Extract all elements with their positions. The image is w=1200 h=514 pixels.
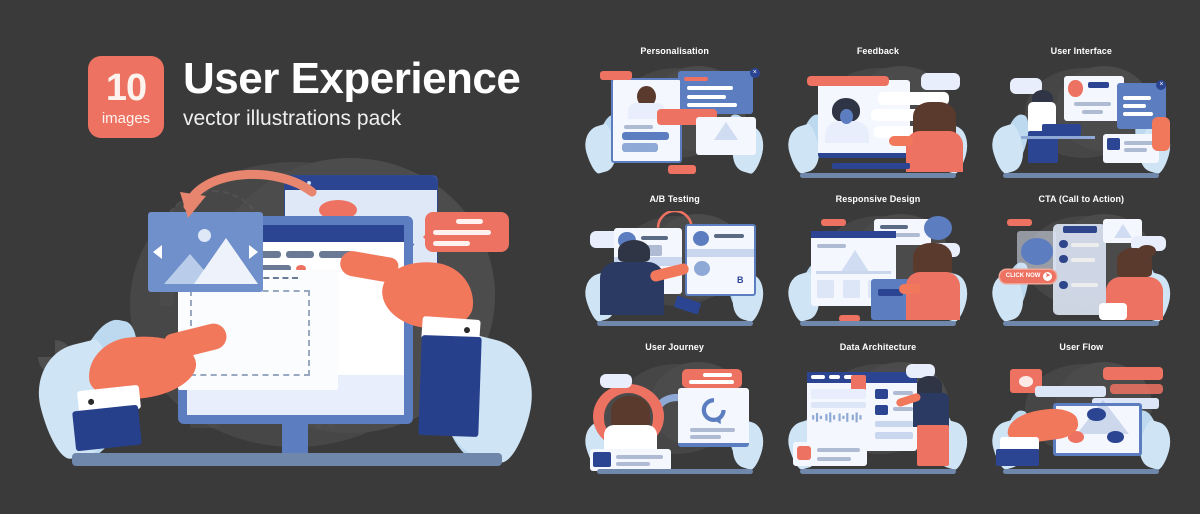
rating-bar <box>807 76 889 87</box>
thumb-data-architecture[interactable]: Data Architecture <box>781 338 974 482</box>
thumb-cta[interactable]: CTA (Call to Action) <box>985 190 1178 334</box>
shield-icon <box>924 216 952 240</box>
person-body <box>825 121 869 143</box>
avatar-icon <box>1068 80 1082 97</box>
sleeve <box>996 449 1039 466</box>
pie-chart-icon <box>693 231 709 246</box>
hair-icon <box>611 396 650 427</box>
tag-badge <box>668 165 696 173</box>
headset-icon <box>840 109 853 123</box>
thumb-title: Personalisation <box>578 46 771 56</box>
browser-window[interactable] <box>807 372 917 452</box>
button <box>1088 82 1110 88</box>
thumb-user-flow[interactable]: User Flow <box>985 338 1178 482</box>
waveform-icon <box>811 411 866 424</box>
refresh-circle-icon <box>691 396 736 424</box>
thumb-title: Responsive Design <box>781 194 974 204</box>
hair-bun-icon <box>1138 245 1156 257</box>
tag-badge <box>1007 219 1032 226</box>
thumb-title: A/B Testing <box>578 194 771 204</box>
thumb-feedback[interactable]: Feedback <box>781 42 974 186</box>
journey-screen[interactable] <box>678 388 749 446</box>
donut-chart-icon <box>1021 238 1053 265</box>
speech-bubble-icon <box>600 374 632 389</box>
close-icon[interactable]: × <box>750 68 760 78</box>
mountain-shape-icon <box>714 122 738 140</box>
image-count-badge: 10 images <box>88 56 164 138</box>
thumb-art: A B <box>586 209 763 330</box>
badge-count: 10 <box>106 69 146 107</box>
thumb-title: CTA (Call to Action) <box>985 194 1178 204</box>
desk-edge <box>832 163 910 169</box>
person-legs <box>917 425 949 466</box>
tag-badge <box>821 219 846 226</box>
curved-arrow-icon <box>180 162 330 232</box>
thumb-art <box>789 357 966 478</box>
screen-variant-b[interactable]: B <box>685 224 756 297</box>
thumb-art <box>993 357 1170 478</box>
thumb-title: User Flow <box>985 342 1178 352</box>
label-bar <box>1035 386 1106 397</box>
thumb-art: CLICK NOW ➤ <box>993 209 1170 330</box>
phone-checklist[interactable] <box>1053 224 1106 316</box>
arm-icon <box>889 136 914 146</box>
page-title: User Experience <box>183 57 520 102</box>
thumb-title: Data Architecture <box>781 342 974 352</box>
mountain-shape-icon <box>841 250 869 272</box>
hero-section: 10 images User Experience vector illustr… <box>0 0 570 514</box>
thumb-responsive-design[interactable]: Responsive Design <box>781 190 974 334</box>
arrow-right-circle-icon: ➤ <box>1043 272 1052 281</box>
task-card <box>793 442 867 466</box>
person-body <box>906 131 963 172</box>
arm-icon <box>1152 117 1170 151</box>
title-block: 10 images User Experience vector illustr… <box>88 56 520 138</box>
sleeve <box>72 405 142 452</box>
badge-label: images <box>102 111 150 126</box>
thumb-user-interface[interactable]: User Interface × <box>985 42 1178 186</box>
thumbnail-grid: Personalisation × <box>578 42 1178 482</box>
hero-illustration <box>30 150 550 490</box>
checkbox-icon <box>1059 240 1068 248</box>
floor-line <box>72 453 502 466</box>
title-text-group: User Experience vector illustrations pac… <box>183 57 520 131</box>
hair-icon <box>618 240 650 262</box>
check-icon <box>797 446 810 460</box>
page-subtitle: vector illustrations pack <box>183 107 520 131</box>
arm-icon <box>899 284 920 294</box>
sleeve <box>418 335 481 437</box>
image-card <box>696 117 756 156</box>
thumb-art <box>586 357 763 478</box>
thumb-art: × <box>586 61 763 182</box>
variant-b-label: B <box>737 275 744 285</box>
thumb-ab-testing[interactable]: A/B Testing A <box>578 190 771 334</box>
checkbox-icon <box>1059 281 1068 289</box>
desk-icon <box>1021 136 1095 139</box>
chat-bubble-icon <box>622 132 669 141</box>
person-body <box>604 425 657 452</box>
laptop-icon[interactable] <box>1042 124 1081 136</box>
comment-bubble <box>425 212 509 252</box>
info-card <box>590 449 672 471</box>
thumb-art: × <box>993 61 1170 182</box>
thumb-personalisation[interactable]: Personalisation × <box>578 42 771 186</box>
comment-bubble <box>1110 384 1163 395</box>
cta-label: CLICK NOW <box>1006 273 1041 279</box>
person-body <box>906 272 959 320</box>
thumb-title: User Interface <box>985 46 1178 56</box>
checkbox-icon <box>875 405 888 415</box>
mountain-shape-icon <box>1114 224 1132 238</box>
thumb-art <box>789 209 966 330</box>
thumb-user-journey[interactable]: User Journey <box>578 338 771 482</box>
avatar-icon <box>1107 431 1124 443</box>
carousel-next-icon[interactable] <box>249 245 258 259</box>
speech-bubble-icon <box>921 73 960 90</box>
cta-button[interactable]: CLICK NOW ➤ <box>1000 270 1057 283</box>
checkbox-icon <box>1059 255 1068 263</box>
thumb-art <box>789 61 966 182</box>
pie-chart-icon <box>694 261 710 276</box>
avatar-icon <box>1087 408 1105 421</box>
hair-icon <box>913 243 952 274</box>
sleeve <box>1099 303 1127 320</box>
thumb-title: User Journey <box>578 342 771 352</box>
chat-bubble-icon <box>622 143 658 152</box>
checkbox-icon <box>875 389 888 399</box>
tag-badge <box>600 71 632 81</box>
carousel-prev-icon[interactable] <box>153 245 162 259</box>
profile-card[interactable] <box>1064 76 1124 122</box>
illustration-pack-canvas: 10 images User Experience vector illustr… <box>0 0 1200 514</box>
comment-bubble <box>1103 367 1163 380</box>
info-card <box>1103 134 1160 163</box>
thumb-title: Feedback <box>781 46 974 56</box>
